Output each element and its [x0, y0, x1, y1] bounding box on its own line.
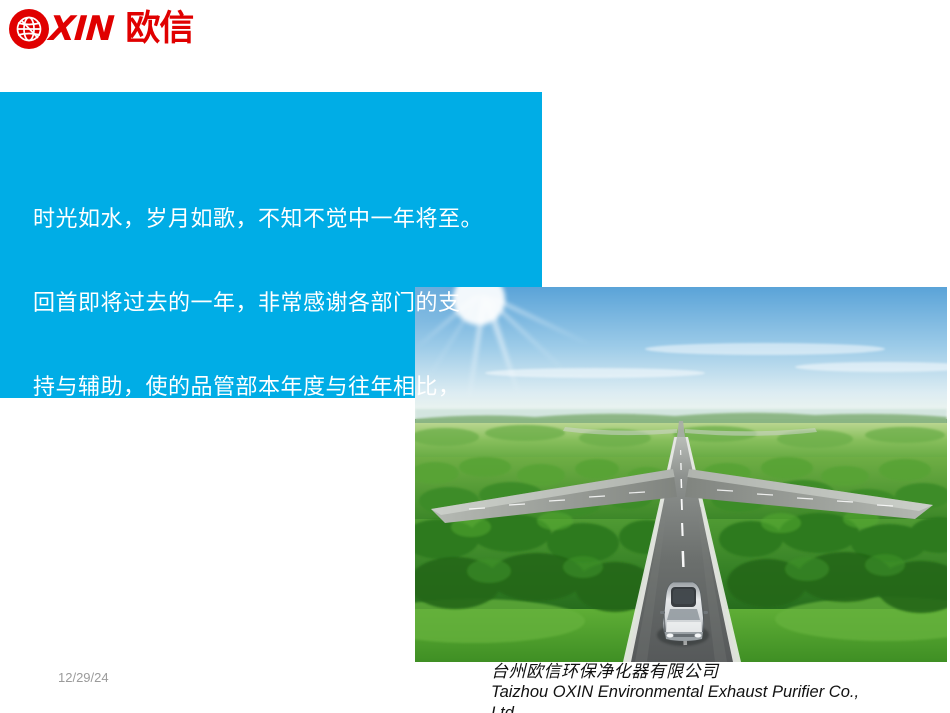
body-text-line-2: 回首即将过去的一年，非常感谢各部门的支	[33, 290, 533, 318]
presentation-slide: XIN 欧信 时光如水，岁月如歌，不知不觉中一年将至。 回首即将过去的一年，非常…	[0, 0, 950, 713]
company-name-english-line2: Ltd.	[491, 703, 950, 713]
body-text-line-5: 现在我将对品管部工作做以下汇报：	[33, 542, 533, 570]
body-text-line-1: 时光如水，岁月如歌，不知不觉中一年将至。	[33, 206, 533, 234]
logo-wordmark: XIN	[48, 12, 115, 46]
company-name-chinese: 台州欧信环保净化器有限公司	[491, 661, 950, 682]
slide-date: 12/29/24	[58, 670, 109, 685]
globe-emblem-icon	[8, 8, 50, 50]
slide-body-text: 时光如水，岁月如歌，不知不觉中一年将至。 回首即将过去的一年，非常感谢各部门的支…	[33, 150, 533, 626]
company-name-footer: 台州欧信环保净化器有限公司 Taizhou OXIN Environmental…	[491, 661, 950, 713]
company-logo: XIN 欧信	[8, 6, 222, 52]
logo-wordmark-chinese: 欧信	[125, 12, 193, 47]
body-text-line-4: 有了相对来说还不错的提升。	[33, 458, 533, 486]
company-name-english-line1: Taizhou OXIN Environmental Exhaust Purif…	[491, 682, 950, 703]
body-text-line-3: 持与辅助，使的品管部本年度与往年相比，	[33, 374, 533, 402]
